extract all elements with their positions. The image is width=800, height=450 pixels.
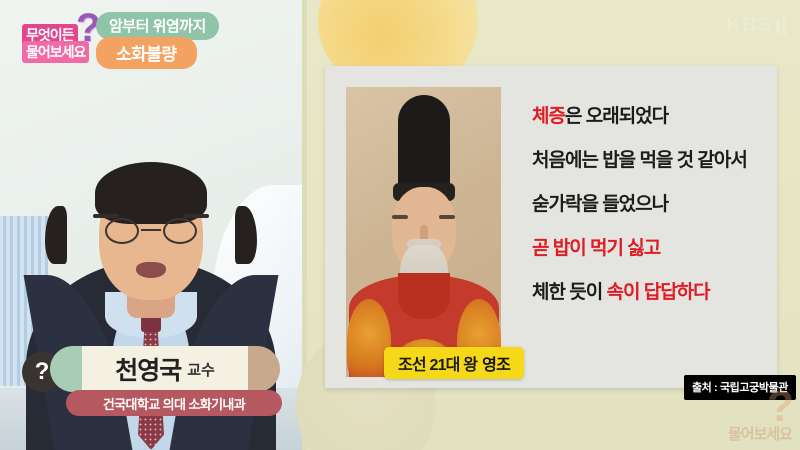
kbs-channel-logo: KBS — [727, 14, 786, 37]
kbs-channel-bars-icon — [776, 16, 786, 35]
guest-affiliation: 건국대학교 의대 소화기내과 — [103, 394, 245, 413]
kbs-logo-text: KBS — [727, 14, 772, 37]
portrait-eye-right — [439, 215, 455, 219]
content-card-inner: 조선 21대 왕 영조 체증은 오래되었다 처음에는 밥을 먹을 것 같아서 숟… — [332, 73, 770, 381]
quote-line-2: 처음에는 밥을 먹을 것 같아서 — [532, 151, 776, 172]
quote-line-1-red: 체증 — [532, 106, 565, 127]
portrait-robe-collar — [398, 273, 450, 319]
guest-nameplate: ? 천영국 교수 건국대학교 의대 소화기내과 — [22, 342, 284, 420]
portrait-caption-main: 조선 21대 왕 — [398, 351, 477, 375]
topic-banner-bottom: 소화불량 — [96, 37, 197, 69]
quote-line-3-pre: 숟가락을 들었으나 — [532, 194, 668, 215]
portrait-gat-hat — [398, 95, 450, 195]
eyeglasses-icon — [103, 218, 199, 244]
watermark-question-icon: ? — [767, 385, 794, 429]
nameplate-primary-row: 천영국 교수 — [50, 346, 280, 392]
quote-line-1: 체증은 오래되었다 — [532, 107, 776, 128]
quote-line-1-post: 은 오래되었다 — [565, 106, 668, 127]
studio-video-pane: 무엇이든 물어보세요 ? 암부터 위염까지 소화불량 ? 천영국 교수 건국대학… — [0, 0, 302, 450]
portrait-caption-badge: 조선 21대 왕 영조 — [384, 347, 524, 379]
nameplate-affiliation-row: 건국대학교 의대 소화기내과 — [66, 390, 282, 416]
content-graphic-pane: 조선 21대 왕 영조 체증은 오래되었다 처음에는 밥을 먹을 것 같아서 숟… — [302, 0, 800, 450]
quote-line-3: 숟가락을 들었으나 — [532, 195, 776, 216]
quote-line-2-pre: 처음에는 밥을 먹을 것 같아서 — [532, 150, 747, 171]
program-logo-block: 무엇이든 물어보세요 ? 암부터 위염까지 소화불량 — [18, 4, 288, 66]
content-card: 조선 21대 왕 영조 체증은 오래되었다 처음에는 밥을 먹을 것 같아서 숟… — [325, 66, 777, 388]
guest-role: 교수 — [187, 359, 215, 380]
corner-watermark: ? 물어보세요 — [728, 423, 792, 444]
guest-hair-left — [45, 206, 67, 264]
quote-line-4-red: 곧 밥이 먹기 싫고 — [532, 238, 660, 259]
guest-hair-right — [235, 206, 257, 264]
portrait-caption-accent: 영조 — [482, 351, 510, 375]
king-yeongjo-portrait-image — [346, 87, 501, 377]
quote-line-4: 곧 밥이 먹기 싫고 — [532, 239, 776, 260]
quotation-text-block: 체증은 오래되었다 처음에는 밥을 먹을 것 같아서 숟가락을 들었으나 곧 밥… — [532, 107, 776, 326]
quote-line-5-red: 속이 답답하다 — [606, 282, 709, 303]
portrait-eye-left — [392, 215, 408, 219]
topic-banner-top: 암부터 위염까지 — [96, 12, 219, 40]
quote-line-5-pre: 체한 듯이 — [532, 282, 606, 303]
broadcast-screenshot: 무엇이든 물어보세요 ? 암부터 위염까지 소화불량 ? 천영국 교수 건국대학… — [0, 0, 800, 450]
guest-mouth — [136, 262, 166, 278]
guest-name: 천영국 — [115, 351, 181, 387]
quote-line-5: 체한 듯이 속이 답답하다 — [532, 283, 776, 304]
